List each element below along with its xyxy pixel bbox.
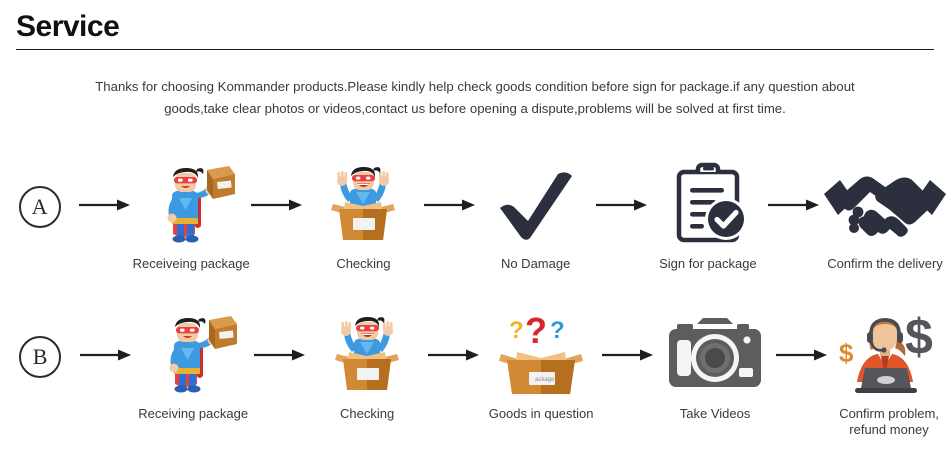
hero-holding-box-icon	[145, 310, 241, 398]
step-a-5: Confirm the delivery	[820, 160, 950, 272]
arrow-icon	[596, 160, 648, 212]
intro-line-1: Thanks for choosing Kommander products.P…	[22, 76, 928, 98]
arrow-icon	[254, 310, 306, 362]
hero-holding-box-icon	[143, 160, 239, 248]
clipboard-check-icon	[662, 160, 754, 248]
camera-icon	[661, 310, 769, 398]
service-info-page: Service Thanks for choosing Kommander pr…	[0, 0, 950, 467]
arrow-icon	[79, 160, 131, 212]
flow-row-a: A	[0, 160, 950, 272]
svg-text:$: $	[839, 338, 854, 368]
step-label: Receiving package	[138, 406, 248, 422]
hero-in-open-box-icon	[319, 310, 415, 398]
arrow-icon	[428, 310, 480, 362]
step-label: Take Videos	[680, 406, 751, 422]
row-marker-a: A	[0, 160, 79, 228]
arrow-icon	[776, 310, 828, 362]
hero-in-open-box-icon	[315, 160, 411, 248]
step-label: Confirm problem, refund money	[839, 406, 939, 438]
step-b-5: $ $	[828, 310, 950, 438]
svg-text:$: $	[905, 310, 933, 365]
step-b-2: Checking	[306, 310, 428, 422]
svg-text:ackage: ackage	[535, 377, 555, 383]
arrow-icon	[602, 310, 654, 362]
arrow-icon	[768, 160, 820, 212]
question-box-icon: ? ? ? ackage	[491, 310, 591, 398]
step-label: No Damage	[501, 256, 570, 272]
circle-marker-letter: A	[19, 186, 61, 228]
arrow-icon	[251, 160, 303, 212]
step-b-1: Receiving package	[132, 310, 254, 422]
intro-paragraph: Thanks for choosing Kommander products.P…	[22, 76, 928, 120]
step-label: Checking	[340, 406, 394, 422]
step-a-2: Checking	[303, 160, 423, 272]
page-title: Service	[16, 8, 934, 46]
arrow-icon	[424, 160, 476, 212]
circle-marker-letter: B	[19, 336, 61, 378]
step-a-1: Receiveing package	[131, 160, 251, 272]
step-b-3: ? ? ? ackage Goods in question	[480, 310, 602, 422]
step-label: Confirm the delivery	[827, 256, 943, 272]
handshake-icon	[820, 160, 950, 248]
row-marker-b: B	[0, 310, 80, 378]
step-label: Receiveing package	[133, 256, 250, 272]
step-label: Goods in question	[489, 406, 594, 422]
checkmark-icon	[490, 160, 582, 248]
title-divider	[16, 49, 934, 50]
step-label: Checking	[336, 256, 390, 272]
support-agent-dollar-icon: $ $	[831, 310, 947, 398]
step-a-4: Sign for package	[648, 160, 768, 272]
arrow-icon	[80, 310, 132, 362]
step-label: Sign for package	[659, 256, 757, 272]
svg-text:?: ?	[525, 310, 547, 351]
step-a-3: No Damage	[476, 160, 596, 272]
svg-text:?: ?	[509, 317, 524, 344]
page-header: Service	[16, 8, 934, 50]
flow-row-b: B	[0, 310, 950, 438]
step-b-4: Take Videos	[654, 310, 776, 422]
intro-line-2: goods,take clear photos or videos,contac…	[22, 98, 928, 120]
svg-text:?: ?	[550, 317, 565, 344]
